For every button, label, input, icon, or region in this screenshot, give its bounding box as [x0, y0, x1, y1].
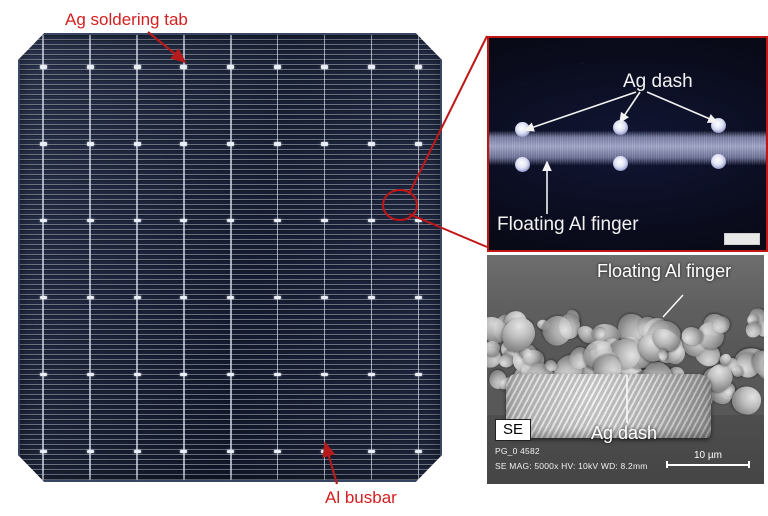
figure-root: Ag dash Floating Al finger Floating Al f…	[0, 0, 768, 516]
arrow-ag-soldering-tab	[148, 32, 185, 62]
callout-line-lower	[409, 214, 487, 247]
label-al-busbar: Al busbar	[325, 488, 397, 508]
label-ag-soldering-tab: Ag soldering tab	[65, 10, 188, 30]
arrow-al-busbar	[325, 443, 337, 484]
callout-line-upper	[409, 36, 487, 194]
red-annotation-overlay	[0, 0, 768, 516]
